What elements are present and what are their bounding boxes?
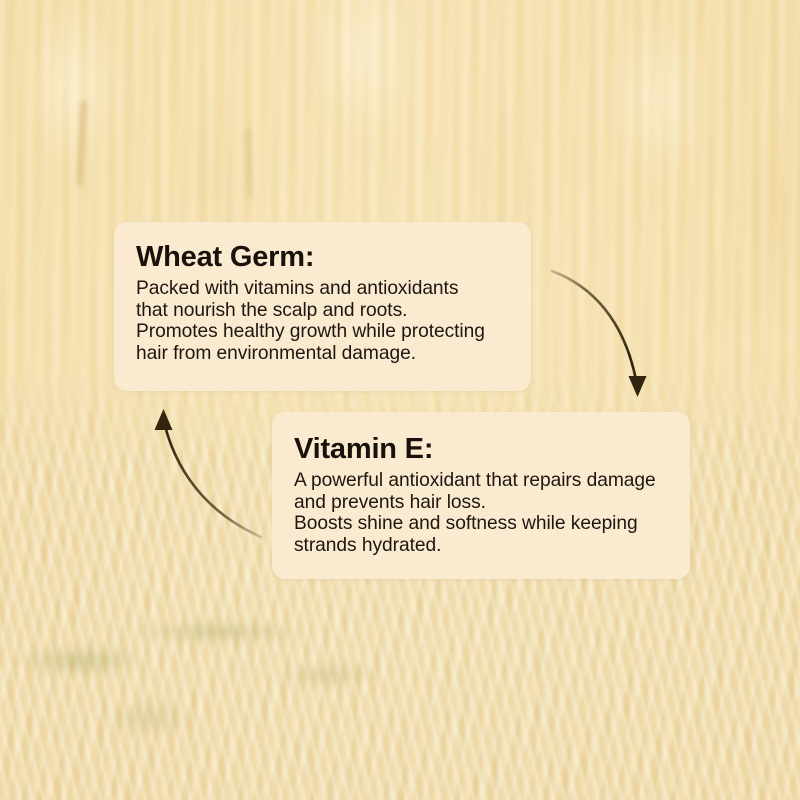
wheat-field-background-photo [0,0,800,800]
card-title-wheat-germ: Wheat Germ: [136,242,509,273]
info-card-vitamin-e: Vitamin E: A powerful antioxidant that r… [272,412,690,579]
card-body-wheat-germ: Packed with vitamins and antioxidants th… [136,278,509,364]
info-card-wheat-germ: Wheat Germ: Packed with vitamins and ant… [114,222,531,391]
card-title-vitamin-e: Vitamin E: [294,434,668,465]
background-warm-color-wash [0,0,800,800]
card-body-vitamin-e: A powerful antioxidant that repairs dama… [294,470,668,556]
wheat-field-infographic: Wheat Germ: Packed with vitamins and ant… [0,0,800,800]
